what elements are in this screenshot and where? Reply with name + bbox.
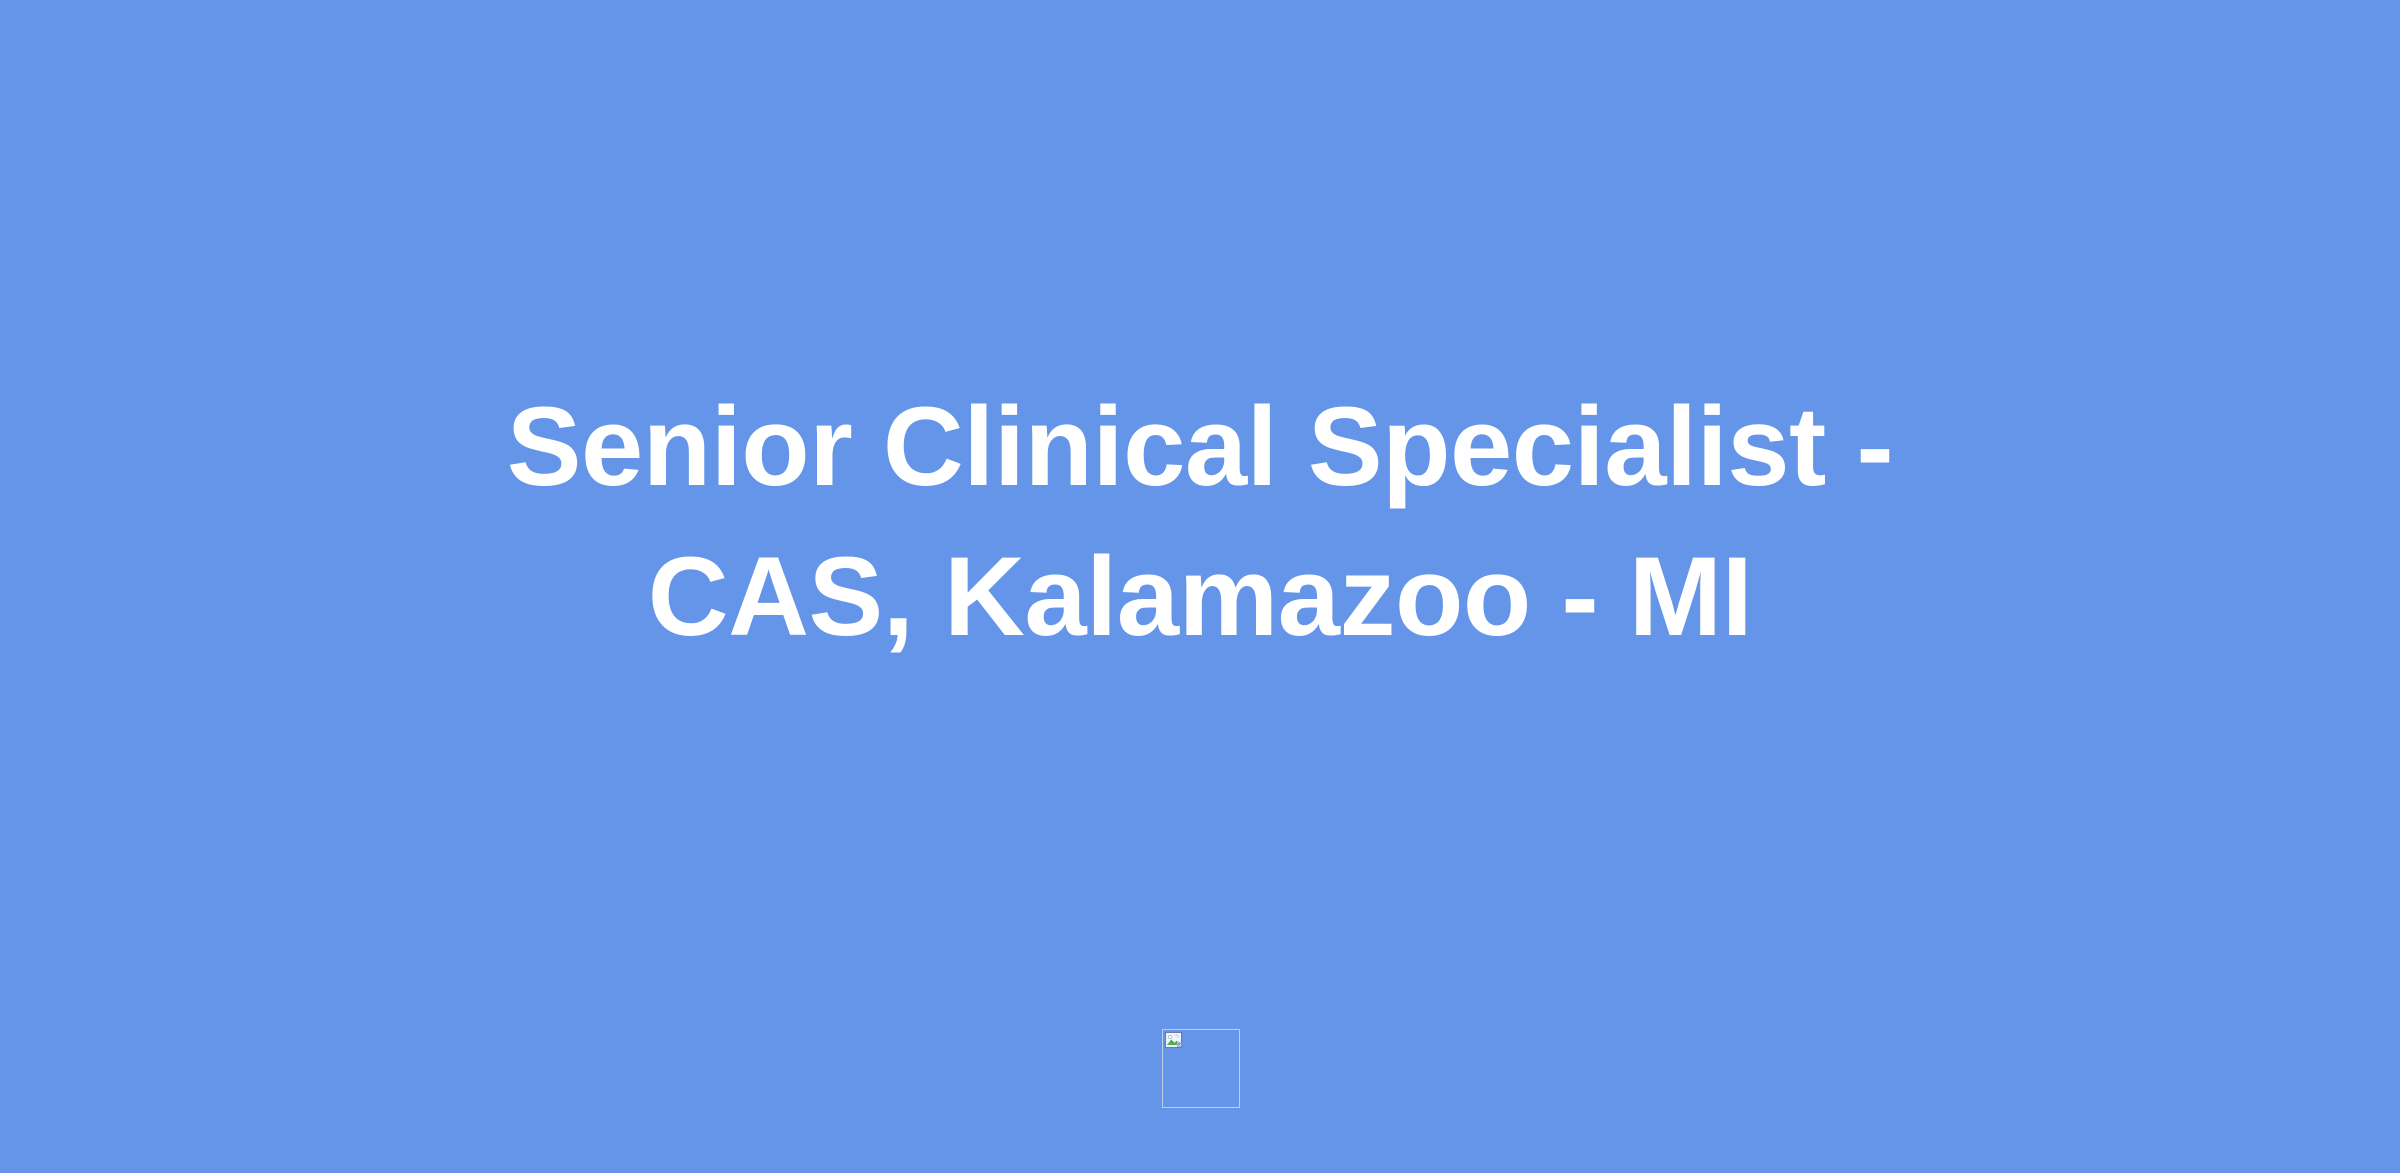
page-title: Senior Clinical Specialist - CAS, Kalama…	[500, 372, 1900, 672]
page-title-container: Senior Clinical Specialist - CAS, Kalama…	[0, 0, 2400, 672]
broken-image-placeholder[interactable]	[1162, 1029, 1240, 1108]
broken-image-icon	[1165, 1032, 1182, 1048]
page-root: Senior Clinical Specialist - CAS, Kalama…	[0, 0, 2400, 1173]
